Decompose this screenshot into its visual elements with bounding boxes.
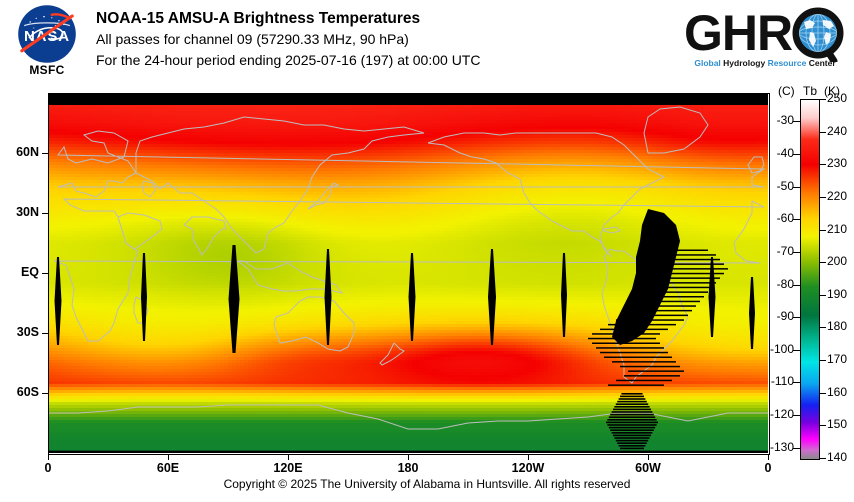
map-lon-label: 60E (138, 461, 198, 475)
colorbar-celsius-tick-mark (793, 317, 800, 318)
colorbar-celsius-tick-mark (793, 252, 800, 253)
colorbar-kelvin-label: 150 (827, 417, 847, 431)
ghrc-sub-word-0: Global (694, 58, 720, 68)
svg-text:GHR: GHR (684, 6, 793, 61)
colorbar-celsius-tick-mark (793, 187, 800, 188)
colorbar-kelvin-label: 210 (827, 222, 847, 236)
colorbar-kelvin-tick-mark (819, 262, 826, 263)
colorbar-kelvin-label: 190 (827, 287, 847, 301)
map-lon-label: 120W (498, 461, 558, 475)
colorbar-kelvin-tick-mark (819, 99, 826, 100)
colorbar-kelvin-tick-mark (819, 393, 826, 394)
colorbar-celsius-tick-mark (793, 350, 800, 351)
colorbar-kelvin-label: 250 (827, 91, 847, 105)
colorbar-celsius-label: -100 (748, 342, 794, 356)
colorbar-celsius-label: -90 (748, 309, 794, 323)
colorbar-gradient (801, 100, 819, 459)
map-lon-tick-mark (288, 454, 289, 460)
brightness-temperature-map[interactable] (48, 93, 768, 453)
map-lat-label: 60N (16, 145, 39, 159)
colorbar-kelvin-tick-mark (819, 295, 826, 296)
map-lon-tick-mark (408, 454, 409, 460)
missing-data-swaths (48, 93, 768, 453)
colorbar-kelvin-tick-mark (819, 425, 826, 426)
colorbar-celsius-label: -80 (748, 277, 794, 291)
colorbar-kelvin-label: 170 (827, 352, 847, 366)
page-header: NASA MSFC NOAA-15 AMSU-A Brightness Temp… (0, 0, 854, 90)
colorbar-unit-tb: Tb (803, 84, 817, 98)
map-lat-tick-mark (42, 153, 48, 154)
map-lat-tick-mark (42, 273, 48, 274)
colorbar-kelvin-tick-mark (819, 360, 826, 361)
map-lat-label: 60S (17, 385, 39, 399)
map-lon-label: 0 (18, 461, 78, 475)
map-lat-tick-mark (42, 213, 48, 214)
nasa-center-label: MSFC (10, 63, 84, 77)
channel-subtitle: All passes for channel 09 (57290.33 MHz,… (96, 29, 480, 50)
map-lon-tick-mark (168, 454, 169, 460)
ghrc-logo: GHR (684, 6, 846, 80)
ghrc-wordmark-icon: GHR (684, 6, 846, 62)
colorbar-kelvin-label: 220 (827, 189, 847, 203)
colorbar-kelvin-tick-mark (819, 164, 826, 165)
colorbar-celsius-tick-mark (793, 121, 800, 122)
colorbar-kelvin-label: 140 (827, 450, 847, 464)
colorbar-celsius-label: -110 (748, 374, 794, 388)
ghrc-subtitle: Global Hydrology Resource Center (684, 58, 846, 68)
ghrc-sub-word-2: Resource (768, 58, 807, 68)
colorbar-celsius-tick-mark (793, 448, 800, 449)
colorbar-kelvin-label: 200 (827, 254, 847, 268)
colorbar-celsius-tick-mark (793, 415, 800, 416)
colorbar-kelvin-label: 230 (827, 156, 847, 170)
map-lon-tick-mark (648, 454, 649, 460)
map-lat-label: EQ (21, 265, 39, 279)
page-title: NOAA-15 AMSU-A Brightness Temperatures (96, 8, 480, 29)
colorbar-kelvin-label: 240 (827, 124, 847, 138)
map-lon-tick-mark (768, 454, 769, 460)
colorbar-celsius-label: -40 (748, 146, 794, 160)
map-lon-label: 180 (378, 461, 438, 475)
colorbar-kelvin-tick-mark (819, 230, 826, 231)
colorbar-unit-celsius: (C) (778, 84, 795, 98)
map-lon-tick-mark (528, 454, 529, 460)
colorbar-celsius-label: -120 (748, 407, 794, 421)
period-subtitle: For the 24-hour period ending 2025-07-16… (96, 50, 480, 71)
colorbar[interactable] (800, 99, 820, 460)
ghrc-sub-word-1: Hydrology (723, 58, 765, 68)
colorbar-celsius-label: -30 (748, 113, 794, 127)
colorbar-celsius-tick-mark (793, 285, 800, 286)
colorbar-kelvin-tick-mark (819, 458, 826, 459)
title-block: NOAA-15 AMSU-A Brightness Temperatures A… (96, 8, 480, 71)
map-lat-label: 30N (16, 205, 39, 219)
colorbar-celsius-tick-mark (793, 154, 800, 155)
nasa-meatball-icon: NASA (17, 4, 77, 64)
colorbar-kelvin-label: 160 (827, 385, 847, 399)
map-lon-label: 0 (738, 461, 798, 475)
colorbar-celsius-tick-mark (793, 219, 800, 220)
colorbar-kelvin-tick-mark (819, 132, 826, 133)
colorbar-kelvin-tick-mark (819, 327, 826, 328)
map-lat-tick-mark (42, 393, 48, 394)
colorbar-celsius-label: -130 (748, 440, 794, 454)
map-lat-label: 30S (17, 325, 39, 339)
colorbar-celsius-label: -60 (748, 211, 794, 225)
map-lon-label: 60W (618, 461, 678, 475)
colorbar-kelvin-tick-mark (819, 197, 826, 198)
colorbar-celsius-label: -50 (748, 179, 794, 193)
ghrc-sub-word-3: Center (809, 58, 836, 68)
colorbar-celsius-tick-mark (793, 382, 800, 383)
map-lon-label: 120E (258, 461, 318, 475)
map-lon-tick-mark (48, 454, 49, 460)
copyright-notice: Copyright © 2025 The University of Alaba… (0, 477, 854, 491)
colorbar-celsius-label: -70 (748, 244, 794, 258)
map-lat-tick-mark (42, 333, 48, 334)
colorbar-kelvin-label: 180 (827, 319, 847, 333)
nasa-logo: NASA MSFC (10, 4, 84, 80)
